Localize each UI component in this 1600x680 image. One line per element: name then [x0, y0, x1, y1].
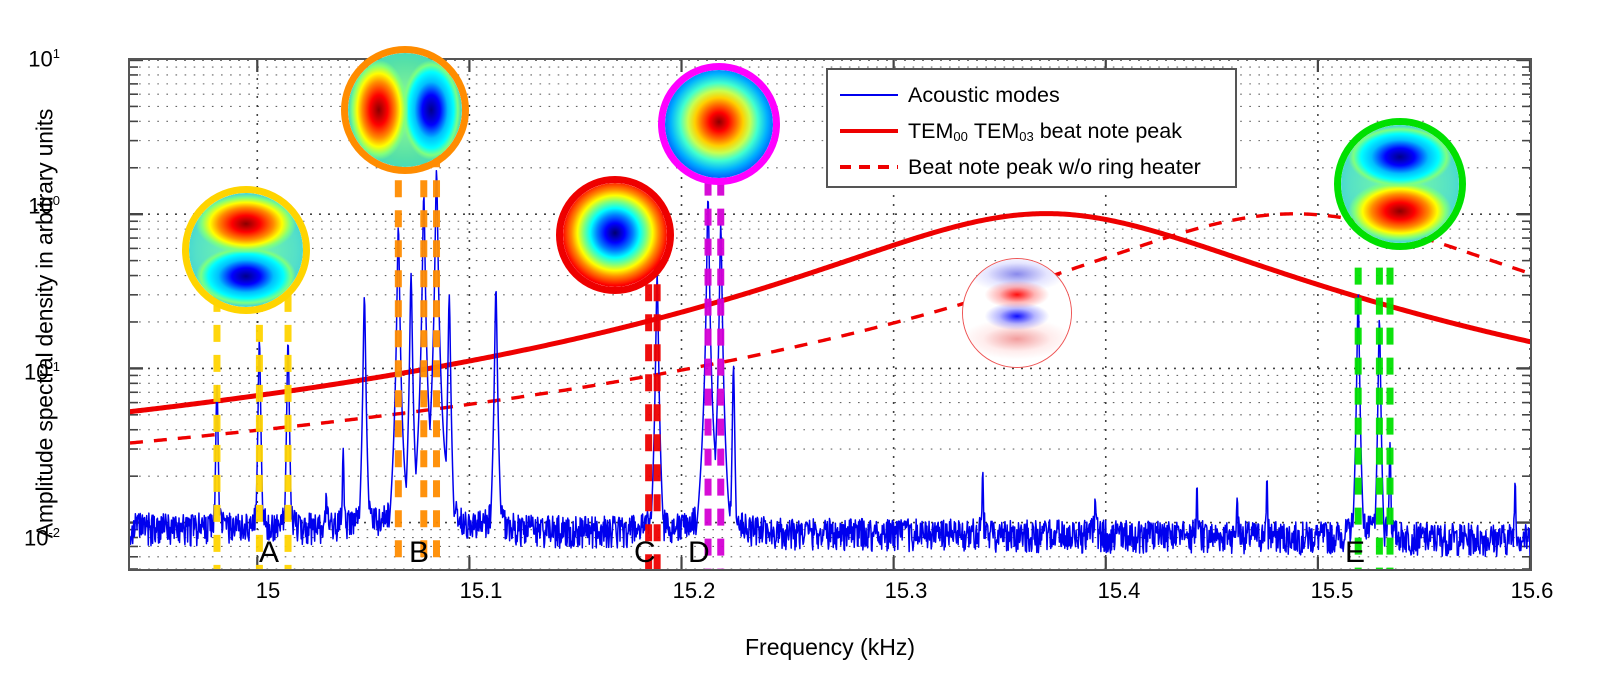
legend-item-no-ring-heater: Beat note peak w/o ring heater — [828, 149, 1235, 185]
legend-swatch-acoustic — [840, 94, 898, 96]
mode-shape-c-pattern — [563, 183, 667, 287]
legend-label-no-ring-heater: Beat note peak w/o ring heater — [908, 155, 1201, 180]
group-label-e: E — [1345, 538, 1365, 568]
mode-shape-e-inset — [1334, 118, 1466, 250]
legend-label-acoustic: Acoustic modes — [908, 83, 1060, 108]
x-tick-label-15-1: 15.1 — [421, 578, 541, 604]
legend-swatch-no-ring-heater — [840, 165, 898, 169]
group-label-b: B — [409, 538, 429, 568]
y-tick-label-10e0: 100 — [0, 193, 60, 219]
x-tick-label-15-2: 15.2 — [634, 578, 754, 604]
mode-shape-c-inset — [556, 176, 674, 294]
tem03-beam-profile-inset — [962, 258, 1072, 368]
x-tick-label-15-3: 15.3 — [846, 578, 966, 604]
legend-swatch-beat-note — [840, 129, 898, 133]
x-axis-label: Frequency (kHz) — [128, 634, 1532, 661]
group-label-a: A — [259, 538, 279, 568]
mode-shape-a-inset — [182, 186, 310, 314]
legend-label-beat-note: TEM00 TEM03 beat note peak — [908, 119, 1182, 144]
mode-shape-a-pattern — [189, 193, 303, 307]
mode-shape-b-pattern — [348, 53, 462, 167]
spectrum-figure: Amplitude spectral density in arbitrary … — [0, 0, 1600, 680]
mode-shape-d-inset — [658, 63, 780, 185]
mode-shape-d-pattern — [665, 70, 773, 178]
x-tick-label-15-5: 15.5 — [1272, 578, 1392, 604]
x-tick-label-15-4: 15.4 — [1059, 578, 1179, 604]
group-label-d: D — [688, 538, 710, 568]
legend: Acoustic modes TEM00 TEM03 beat note pea… — [826, 68, 1237, 188]
y-tick-label-10e-1: 10-1 — [0, 359, 60, 385]
x-tick-label-15-6: 15.6 — [1472, 578, 1592, 604]
legend-item-acoustic-modes: Acoustic modes — [828, 77, 1235, 113]
y-tick-label-10e-2: 10-2 — [0, 525, 60, 551]
y-tick-label-10e1: 101 — [0, 46, 60, 72]
tem03-beam-pattern — [963, 259, 1071, 367]
mode-shape-b-inset — [341, 46, 469, 174]
group-label-c: C — [634, 538, 656, 568]
legend-item-beat-note: TEM00 TEM03 beat note peak — [828, 113, 1235, 149]
x-tick-label-15: 15 — [208, 578, 328, 604]
mode-shape-e-pattern — [1341, 125, 1459, 243]
